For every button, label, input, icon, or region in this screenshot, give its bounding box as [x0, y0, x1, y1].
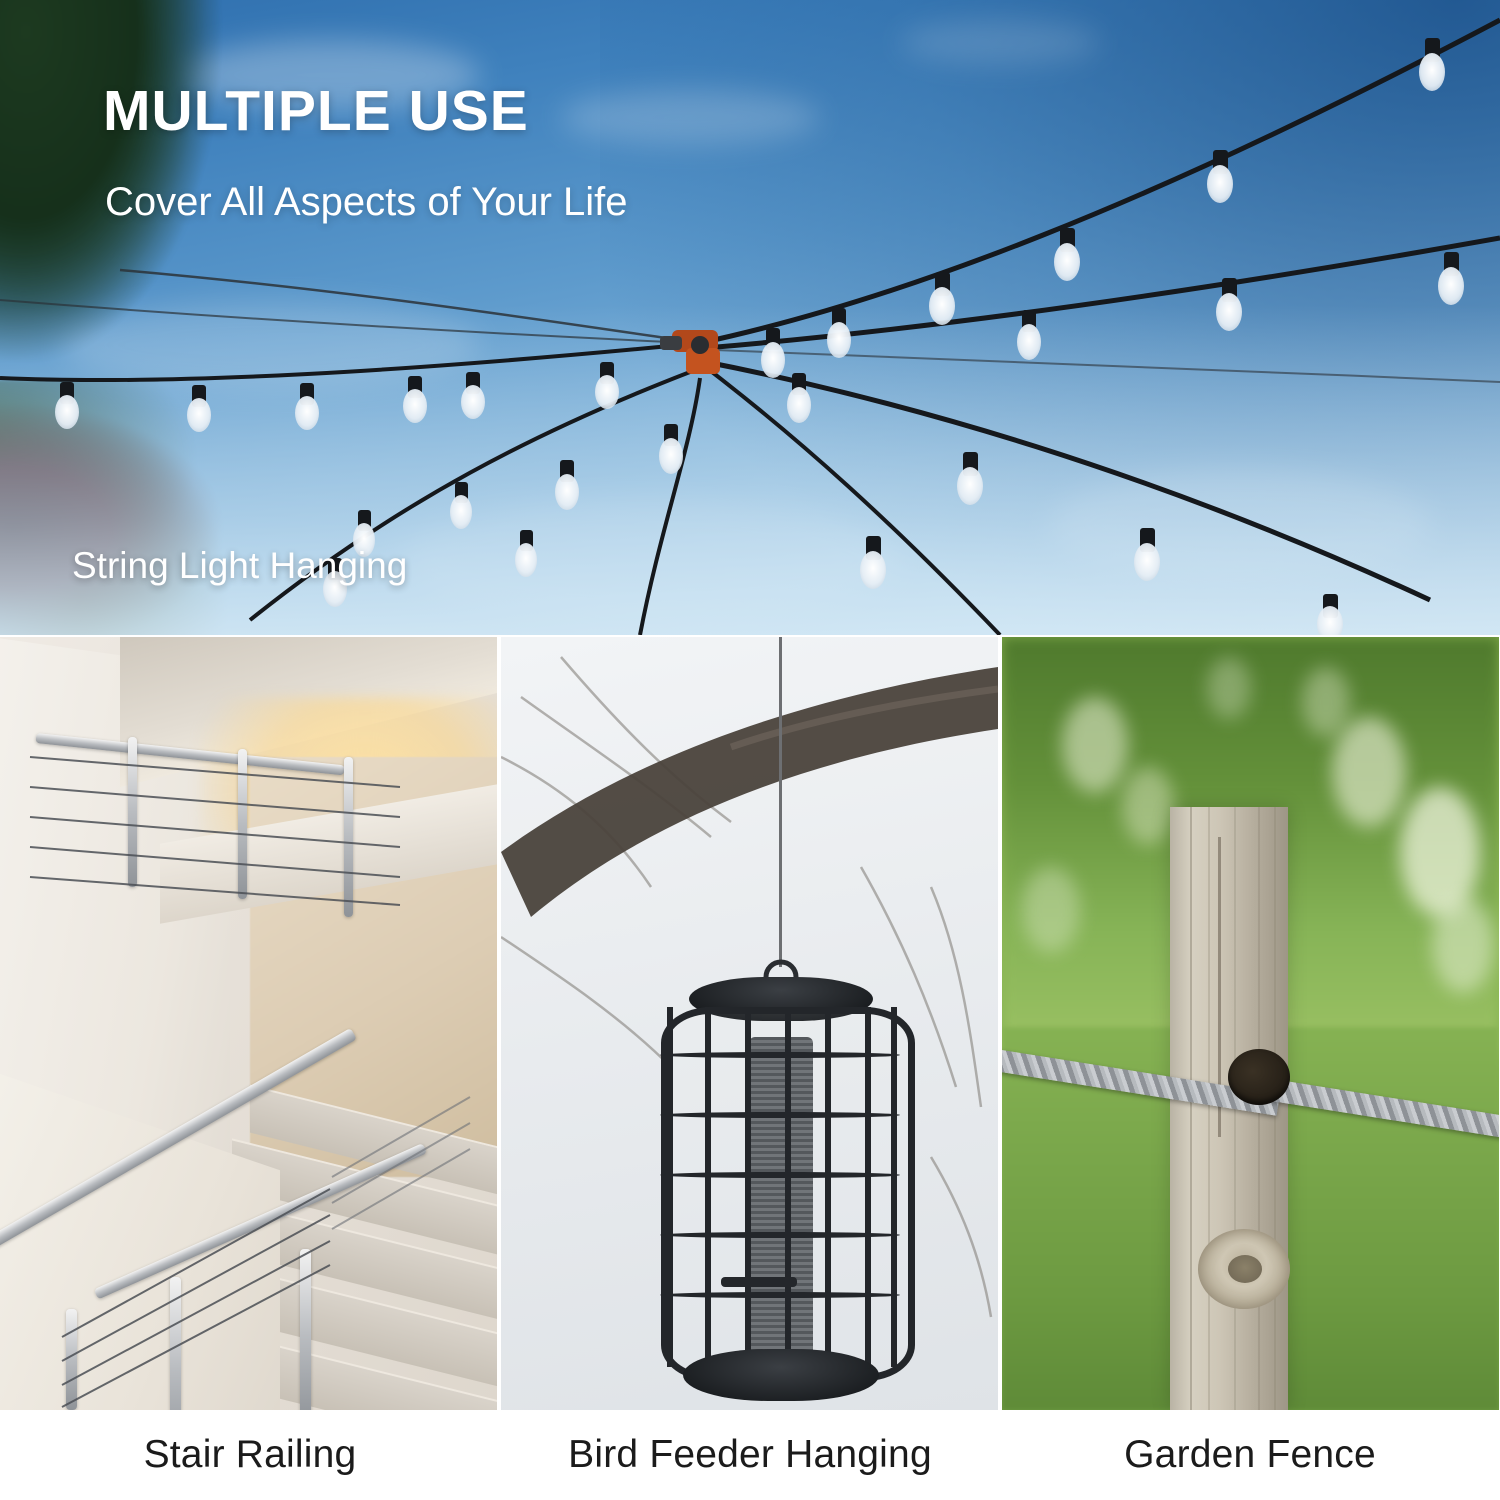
panel-garden-fence: [1002, 637, 1499, 1410]
wood-knot-center: [1228, 1255, 1262, 1283]
bokeh-light: [1432, 897, 1494, 993]
caption-row: Stair Railing Bird Feeder Hanging Garden…: [0, 1410, 1500, 1500]
hero-image-string-lights: MULTIPLE USE Cover All Aspects of Your L…: [0, 0, 1500, 635]
caption-stair-railing: Stair Railing: [0, 1410, 500, 1500]
caption-garden-fence: Garden Fence: [1000, 1410, 1500, 1500]
bokeh-light: [1302, 667, 1350, 737]
drilled-hole: [1228, 1049, 1290, 1105]
cage-bar: [667, 1007, 673, 1367]
bokeh-light: [1062, 697, 1128, 793]
cage-bar: [785, 1007, 791, 1367]
caption-bird-feeder: Bird Feeder Hanging: [500, 1410, 1000, 1500]
bokeh-light: [1207, 657, 1251, 719]
feeder-seed-tube: [749, 1037, 813, 1367]
bokeh-light: [1022, 867, 1080, 953]
wood-grain: [1190, 807, 1192, 1410]
cage-bar: [865, 1007, 871, 1367]
main-branch: [501, 667, 998, 917]
hero-scene-caption: String Light Hanging: [72, 545, 407, 587]
cage-bar: [825, 1007, 831, 1367]
panel-bird-feeder: [501, 637, 998, 1410]
cage-bar: [745, 1007, 751, 1367]
cage-ring: [660, 1172, 900, 1178]
panel-row: [0, 637, 1500, 1410]
feeder-perch: [721, 1277, 797, 1287]
cable-junction-connector: [660, 330, 720, 374]
railing-cables: [0, 637, 497, 1410]
hero-title: MULTIPLE USE: [103, 83, 529, 140]
feeder-base: [683, 1349, 879, 1401]
cage-ring: [660, 1052, 900, 1058]
cage-bar: [705, 1007, 711, 1367]
hanging-wire: [779, 637, 782, 967]
bokeh-light: [1122, 767, 1174, 845]
cage-ring: [660, 1232, 900, 1238]
bokeh-light: [1332, 717, 1406, 827]
cage-ring: [660, 1292, 900, 1298]
panel-stair-railing: [0, 637, 497, 1410]
bird-feeder: [661, 977, 901, 1397]
cage-bar: [891, 1007, 897, 1367]
product-feature-collage: MULTIPLE USE Cover All Aspects of Your L…: [0, 0, 1500, 1500]
cage-ring: [660, 1112, 900, 1118]
hero-subtitle: Cover All Aspects of Your Life: [105, 180, 628, 224]
wood-grain: [1208, 807, 1210, 1410]
